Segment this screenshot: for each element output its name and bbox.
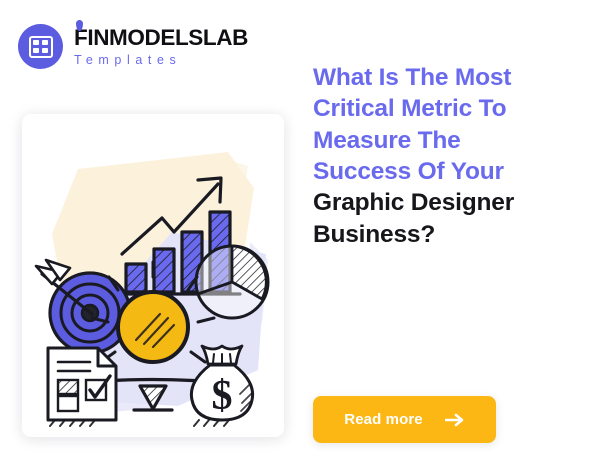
headline-line-1: What Is The Most xyxy=(313,62,585,93)
grid-glyph xyxy=(29,36,53,58)
svg-text:$: $ xyxy=(212,373,233,419)
arrow-right-icon xyxy=(445,413,465,427)
read-more-button[interactable]: Read more xyxy=(313,396,496,443)
pie-chart-icon xyxy=(196,246,268,318)
brand-name: FINMODELSLAB xyxy=(74,27,248,50)
checklist-document-icon xyxy=(48,348,116,426)
brand-tagline: Templates xyxy=(74,54,248,67)
promo-banner: FINMODELSLAB Templates xyxy=(0,0,600,464)
headline-line-6: Business? xyxy=(313,219,585,250)
brand-logo[interactable]: FINMODELSLAB Templates xyxy=(18,24,248,69)
page-title: What Is The Most Critical Metric To Meas… xyxy=(313,62,585,250)
headline-line-2: Critical Metric To xyxy=(313,93,585,124)
brand-wordmark: FINMODELSLAB Templates xyxy=(74,27,248,67)
headline-line-5: Graphic Designer xyxy=(313,187,585,218)
droplet-icon xyxy=(76,20,83,31)
read-more-label: Read more xyxy=(344,411,422,428)
grid-square-icon xyxy=(18,24,63,69)
headline-line-3: Measure The xyxy=(313,125,585,156)
illustration-card: $ xyxy=(22,114,284,437)
business-metrics-illustration: $ xyxy=(22,114,284,437)
headline-line-4: Success Of Your xyxy=(313,156,585,187)
